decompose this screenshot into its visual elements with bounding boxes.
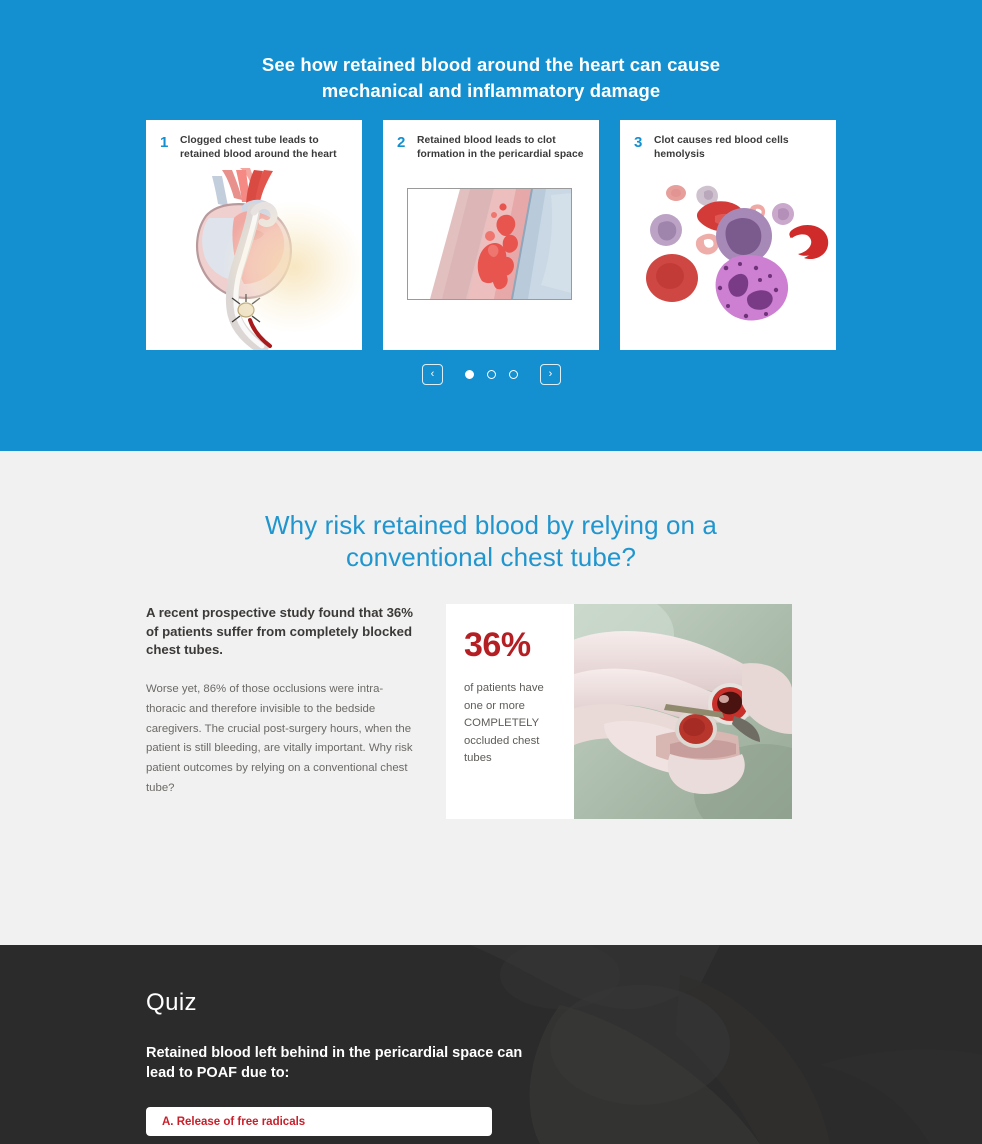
quiz-question: Retained blood left behind in the perica… xyxy=(146,1043,538,1083)
occluded-chest-tube-photo xyxy=(574,604,792,819)
retained-blood-section: See how retained blood around the heart … xyxy=(0,0,982,451)
stat-body-text: Worse yet, 86% of those occlusions were … xyxy=(146,680,418,798)
carousel-dots xyxy=(465,370,518,379)
carousel-dot-2[interactable] xyxy=(487,370,496,379)
quiz-content: Quiz Retained blood left behind in the p… xyxy=(0,945,982,1136)
quiz-heading: Quiz xyxy=(146,989,982,1017)
heart-glow xyxy=(224,202,362,332)
page-root: See how retained blood around the heart … xyxy=(0,0,982,1144)
step-card-2-head: 2 Retained blood leads to clot formation… xyxy=(383,120,599,161)
step-card-2-number: 2 xyxy=(397,134,417,161)
quiz-answer-option-a-label: A. Release of free radicals xyxy=(162,1116,305,1128)
occluded-chest-tube-photo-svg xyxy=(574,604,792,819)
stat-copy: A recent prospective study found that 36… xyxy=(146,604,446,819)
step-card-1-head: 1 Clogged chest tube leads to retained b… xyxy=(146,120,362,161)
steps-carousel-controls: ‹ › xyxy=(422,364,561,385)
carousel-prev-button[interactable]: ‹ xyxy=(422,364,443,385)
blood-cells-svg xyxy=(620,168,836,338)
blood-cells-illustration xyxy=(620,168,836,350)
vessel-cross-section-frame xyxy=(407,188,572,300)
step-card-2-text: Retained blood leads to clot formation i… xyxy=(417,134,587,161)
carousel-dot-3[interactable] xyxy=(509,370,518,379)
vessel-cross-section-svg xyxy=(408,189,571,299)
step-card-3-text: Clot causes red blood cells hemolysis xyxy=(654,134,824,161)
stat-figure-panel: 36% of patients have one or more COMPLET… xyxy=(446,604,574,819)
step-card-1-text: Clogged chest tube leads to retained blo… xyxy=(180,134,350,161)
pericardial-clot-illustration xyxy=(383,168,599,350)
stat-caption: of patients have one or more COMPLETELY … xyxy=(464,680,560,768)
step-card-3-number: 3 xyxy=(634,134,654,161)
step-card-3-head: 3 Clot causes red blood cells hemolysis xyxy=(620,120,836,161)
step-card-1-number: 1 xyxy=(160,134,180,161)
stat-card[interactable]: 36% of patients have one or more COMPLET… xyxy=(446,604,792,819)
step-card-3[interactable]: 3 Clot causes red blood cells hemolysis xyxy=(620,120,836,350)
stat-percent: 36% xyxy=(464,628,574,662)
carousel-dot-1[interactable] xyxy=(465,370,474,379)
step-card-2[interactable]: 2 Retained blood leads to clot formation… xyxy=(383,120,599,350)
quiz-section: Quiz Retained blood left behind in the p… xyxy=(0,945,982,1144)
heart-illustration xyxy=(146,168,362,350)
steps-carousel-track: 1 Clogged chest tube leads to retained b… xyxy=(146,120,836,350)
stat-row: A recent prospective study found that 36… xyxy=(146,604,836,819)
stat-lead-text: A recent prospective study found that 36… xyxy=(146,604,418,660)
section-blue-title: See how retained blood around the heart … xyxy=(211,0,771,103)
quiz-answer-option-a[interactable]: A. Release of free radicals xyxy=(146,1107,492,1136)
step-card-1[interactable]: 1 Clogged chest tube leads to retained b… xyxy=(146,120,362,350)
section-light-title: Why risk retained blood by relying on a … xyxy=(191,451,791,573)
why-risk-section: Why risk retained blood by relying on a … xyxy=(0,451,982,945)
carousel-next-button[interactable]: › xyxy=(540,364,561,385)
